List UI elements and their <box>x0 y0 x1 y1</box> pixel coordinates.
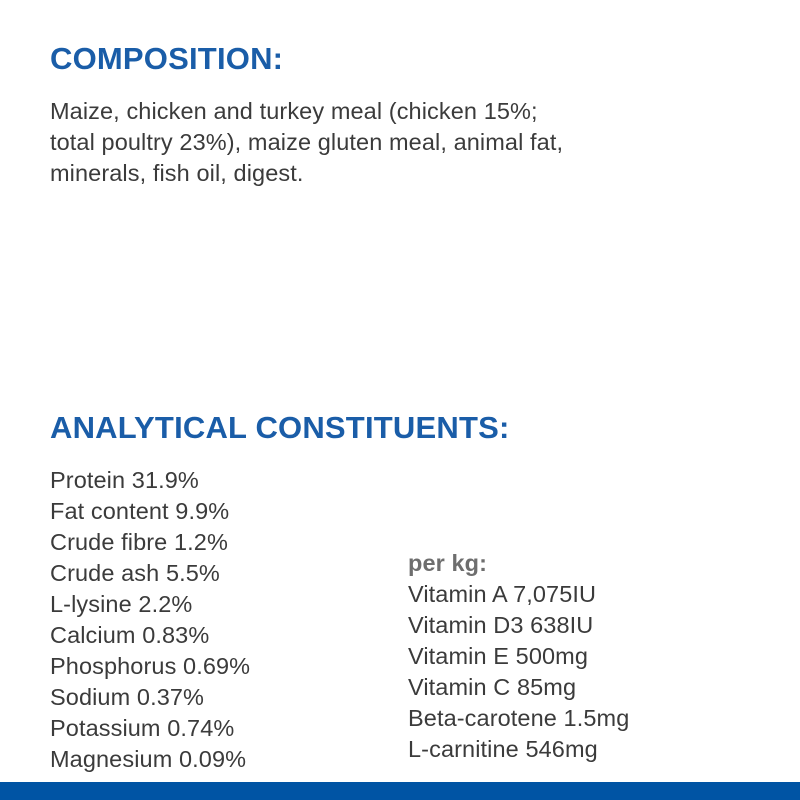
product-label-panel: COMPOSITION: Maize, chicken and turkey m… <box>0 0 800 800</box>
constituent-row: Potassium 0.74% <box>50 713 390 744</box>
nutrient-row: Vitamin E 500mg <box>408 641 748 672</box>
constituent-row: Crude ash 5.5% <box>50 558 390 589</box>
constituent-row: Calcium 0.83% <box>50 620 390 651</box>
constituent-row: Sodium 0.37% <box>50 682 390 713</box>
composition-line: minerals, fish oil, digest. <box>50 158 750 189</box>
constituents-right-column: per kg: Vitamin A 7,075IU Vitamin D3 638… <box>408 548 748 765</box>
composition-heading: COMPOSITION: <box>50 42 283 76</box>
constituent-row: Crude fibre 1.2% <box>50 527 390 558</box>
constituent-row: Fat content 9.9% <box>50 496 390 527</box>
constituent-row: L-lysine 2.2% <box>50 589 390 620</box>
composition-line: Maize, chicken and turkey meal (chicken … <box>50 96 750 127</box>
composition-body-text: Maize, chicken and turkey meal (chicken … <box>50 96 750 189</box>
constituent-row: Protein 31.9% <box>50 465 390 496</box>
bottom-accent-bar <box>0 782 800 800</box>
nutrient-row: Beta-carotene 1.5mg <box>408 703 748 734</box>
analytical-constituents-heading: ANALYTICAL CONSTITUENTS: <box>50 411 509 445</box>
nutrient-row: Vitamin D3 638IU <box>408 610 748 641</box>
nutrient-row: Vitamin A 7,075IU <box>408 579 748 610</box>
nutrient-row: Vitamin C 85mg <box>408 672 748 703</box>
constituent-row: Phosphorus 0.69% <box>50 651 390 682</box>
constituents-left-column: Protein 31.9% Fat content 9.9% Crude fib… <box>50 465 390 775</box>
constituent-row: Magnesium 0.09% <box>50 744 390 775</box>
nutrient-row: L-carnitine 546mg <box>408 734 748 765</box>
per-kg-label: per kg: <box>408 548 748 579</box>
composition-line: total poultry 23%), maize gluten meal, a… <box>50 127 750 158</box>
